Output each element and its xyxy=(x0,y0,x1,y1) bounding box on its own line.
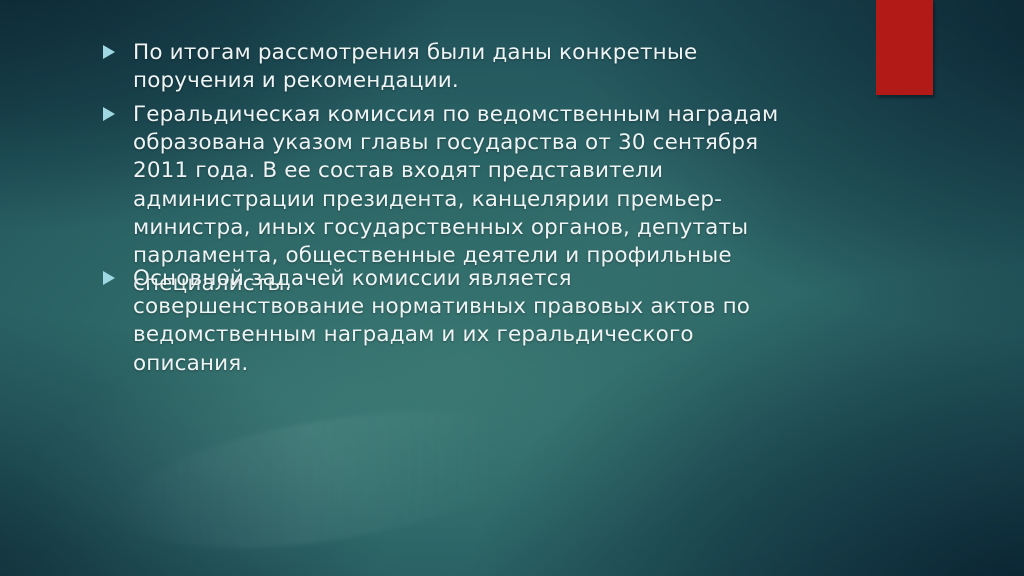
bullet-list-item: По итогам рассмотрения были даны конкрет… xyxy=(103,39,803,95)
bullet-item-text: По итогам рассмотрения были даны конкрет… xyxy=(133,39,803,95)
bullet-list-item: Основной задачей комиссии является совер… xyxy=(103,265,803,378)
presentation-slide: По итогам рассмотрения были даны конкрет… xyxy=(0,0,1024,576)
triangle-right-bullet-icon xyxy=(103,101,133,121)
slide-body-content: По итогам рассмотрения были даны конкрет… xyxy=(0,0,1024,576)
triangle-right-bullet-icon xyxy=(103,265,133,285)
triangle-right-bullet-icon xyxy=(103,39,133,59)
bullet-item-text: Основной задачей комиссии является совер… xyxy=(133,265,803,378)
